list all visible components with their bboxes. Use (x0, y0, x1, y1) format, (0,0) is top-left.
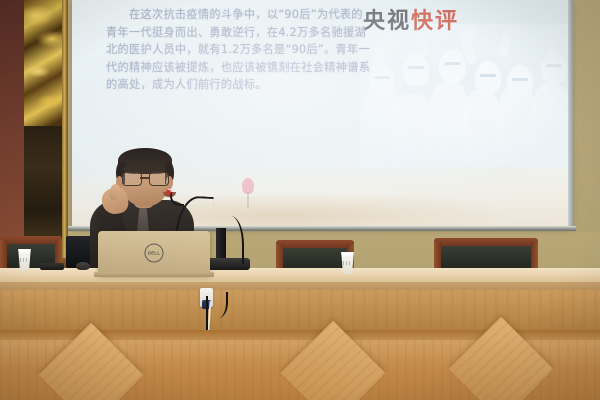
dell-logo-text: DELL (148, 251, 160, 256)
dell-laptop: DELL (98, 231, 210, 275)
speaker-brow-left (123, 168, 139, 171)
speaker-brow-right (141, 168, 157, 171)
eyeglasses-icon (122, 172, 168, 184)
dell-logo-icon: DELL (145, 244, 164, 263)
lecture-hall-photo: 央视快评 在这次抗击疫情的斗争中，以“90后”为代表的青年一代挺身而出、勇敢逆行… (0, 0, 600, 400)
dell-laptop-base (94, 272, 214, 277)
screen-frame-right (568, 0, 573, 230)
wall-panel-gold-marble (24, 0, 64, 130)
desk-black-device (40, 263, 64, 270)
microphone-indicator-led (166, 190, 171, 195)
computer-mouse (76, 262, 90, 270)
wall-panel-dark (0, 0, 26, 262)
